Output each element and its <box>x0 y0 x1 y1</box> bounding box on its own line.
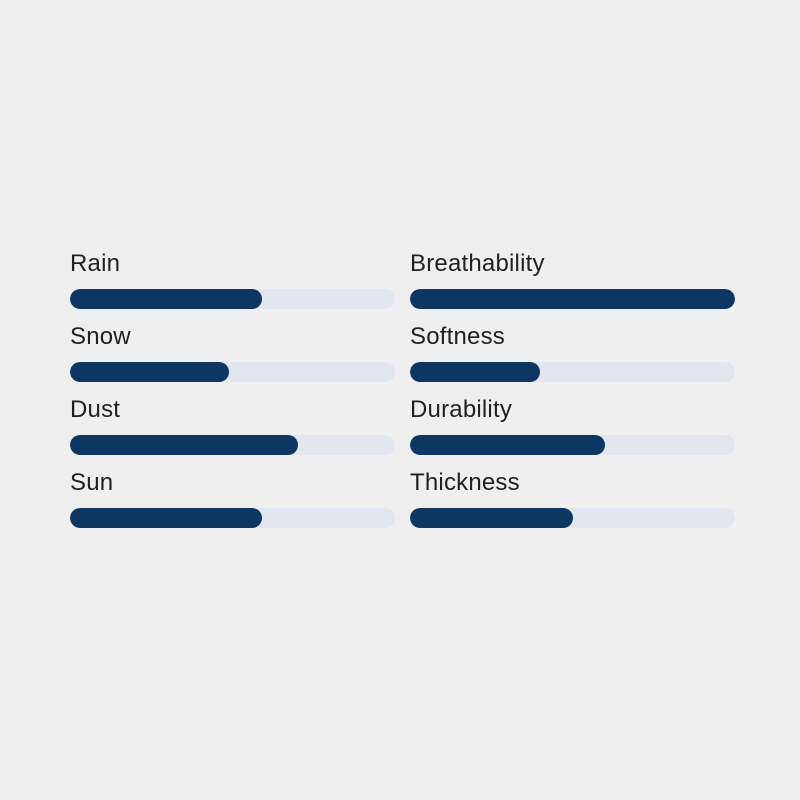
meter-label-snow: Snow <box>70 323 395 351</box>
meter-row: Durability <box>410 396 735 469</box>
meter-row: Rain <box>70 250 395 323</box>
meter-label-dust: Dust <box>70 396 395 424</box>
meter-row: Sun <box>70 469 395 542</box>
attribute-meters-panel: Rain Snow Dust Sun Breathability Softnes… <box>70 250 735 542</box>
meter-label-softness: Softness <box>410 323 735 351</box>
meter-track-rain[interactable] <box>70 289 395 309</box>
meter-track-thickness[interactable] <box>410 508 735 528</box>
meter-track-snow[interactable] <box>70 362 395 382</box>
meter-row: Snow <box>70 323 395 396</box>
meter-label-sun: Sun <box>70 469 395 497</box>
meter-row: Thickness <box>410 469 735 542</box>
meter-row: Softness <box>410 323 735 396</box>
meter-fill-dust <box>70 435 298 455</box>
meter-label-thickness: Thickness <box>410 469 735 497</box>
meter-fill-sun <box>70 508 262 528</box>
meter-label-breathability: Breathability <box>410 250 735 278</box>
meter-label-durability: Durability <box>410 396 735 424</box>
meter-track-dust[interactable] <box>70 435 395 455</box>
meter-label-rain: Rain <box>70 250 395 278</box>
meter-fill-snow <box>70 362 229 382</box>
meter-row: Breathability <box>410 250 735 323</box>
meter-fill-durability <box>410 435 605 455</box>
meter-track-durability[interactable] <box>410 435 735 455</box>
meter-fill-thickness <box>410 508 573 528</box>
meter-track-sun[interactable] <box>70 508 395 528</box>
meter-row: Dust <box>70 396 395 469</box>
meter-fill-rain <box>70 289 262 309</box>
meter-track-breathability[interactable] <box>410 289 735 309</box>
meter-fill-breathability <box>410 289 735 309</box>
meter-track-softness[interactable] <box>410 362 735 382</box>
meter-fill-softness <box>410 362 540 382</box>
